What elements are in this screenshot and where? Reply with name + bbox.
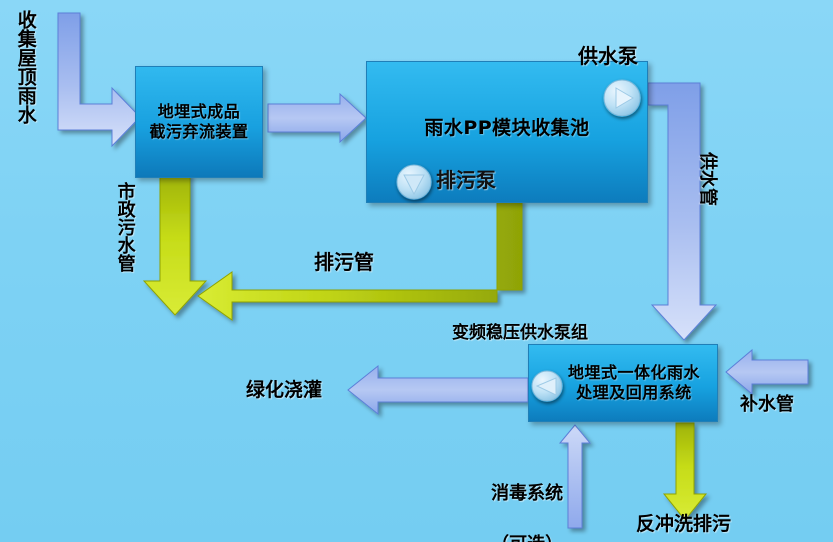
label-backwash-blowdown: 反冲洗排污 <box>636 513 731 536</box>
sewage-pump-icon[interactable] <box>396 164 432 200</box>
label-roof-collect: 收集屋顶雨水 <box>14 10 37 136</box>
label-supply-pipe: 供水管 <box>696 152 718 206</box>
arrow-supply-pipe <box>648 83 716 340</box>
node-treatment-label: 地埋式一体化雨水 处理及回用系统 <box>546 363 700 402</box>
arrow-makeup-pipe <box>726 350 808 394</box>
label-municipal-sewer: 市政污水管 <box>114 182 136 302</box>
arrow-backwash <box>664 423 706 520</box>
diagram-canvas: 地埋式成品 截污弃流装置 雨水PP模块收集池 地埋式一体化雨水 处理及回用系统 <box>0 0 833 542</box>
arrow-to-irrigation <box>348 366 528 414</box>
label-disinfection-system: 消毒系统 （可选） <box>466 455 563 542</box>
supply-pump-icon[interactable] <box>603 79 641 117</box>
label-green-irrigation: 绿化浇灌 <box>246 379 322 402</box>
label-sewage-pump: 排污泵 <box>436 168 496 192</box>
node-intercept-device-label: 地埋式成品 截污弃流装置 <box>149 102 248 141</box>
node-intercept-line1: 地埋式成品 <box>158 102 241 121</box>
label-supply-pump: 供水泵 <box>578 44 638 68</box>
arrow-intercept-to-pool <box>268 94 366 142</box>
arrow-disinfection <box>560 425 590 528</box>
node-pp-pool-label: 雨水PP模块收集池 <box>424 117 589 140</box>
node-treatment-line1: 地埋式一体化雨水 <box>568 363 700 382</box>
node-intercept-line2: 截污弃流装置 <box>149 122 248 141</box>
label-disinfection-line1: 消毒系统 <box>491 483 563 504</box>
arrow-intercept-to-sewer <box>144 174 206 315</box>
booster-pump-set-icon[interactable] <box>531 370 563 402</box>
label-makeup-pipe: 补水管 <box>740 394 794 416</box>
label-sewage-pipe: 排污管 <box>314 250 374 274</box>
node-intercept-device[interactable]: 地埋式成品 截污弃流装置 <box>135 66 263 178</box>
label-booster-pump-set: 变频稳压供水泵组 <box>452 323 588 343</box>
label-disinfection-line2: （可选） <box>491 534 563 542</box>
arrow-roof-to-intercept <box>58 13 140 146</box>
node-treatment-line2: 处理及回用系统 <box>576 383 692 402</box>
node-pp-pool-line1: 雨水PP模块收集池 <box>424 117 589 139</box>
